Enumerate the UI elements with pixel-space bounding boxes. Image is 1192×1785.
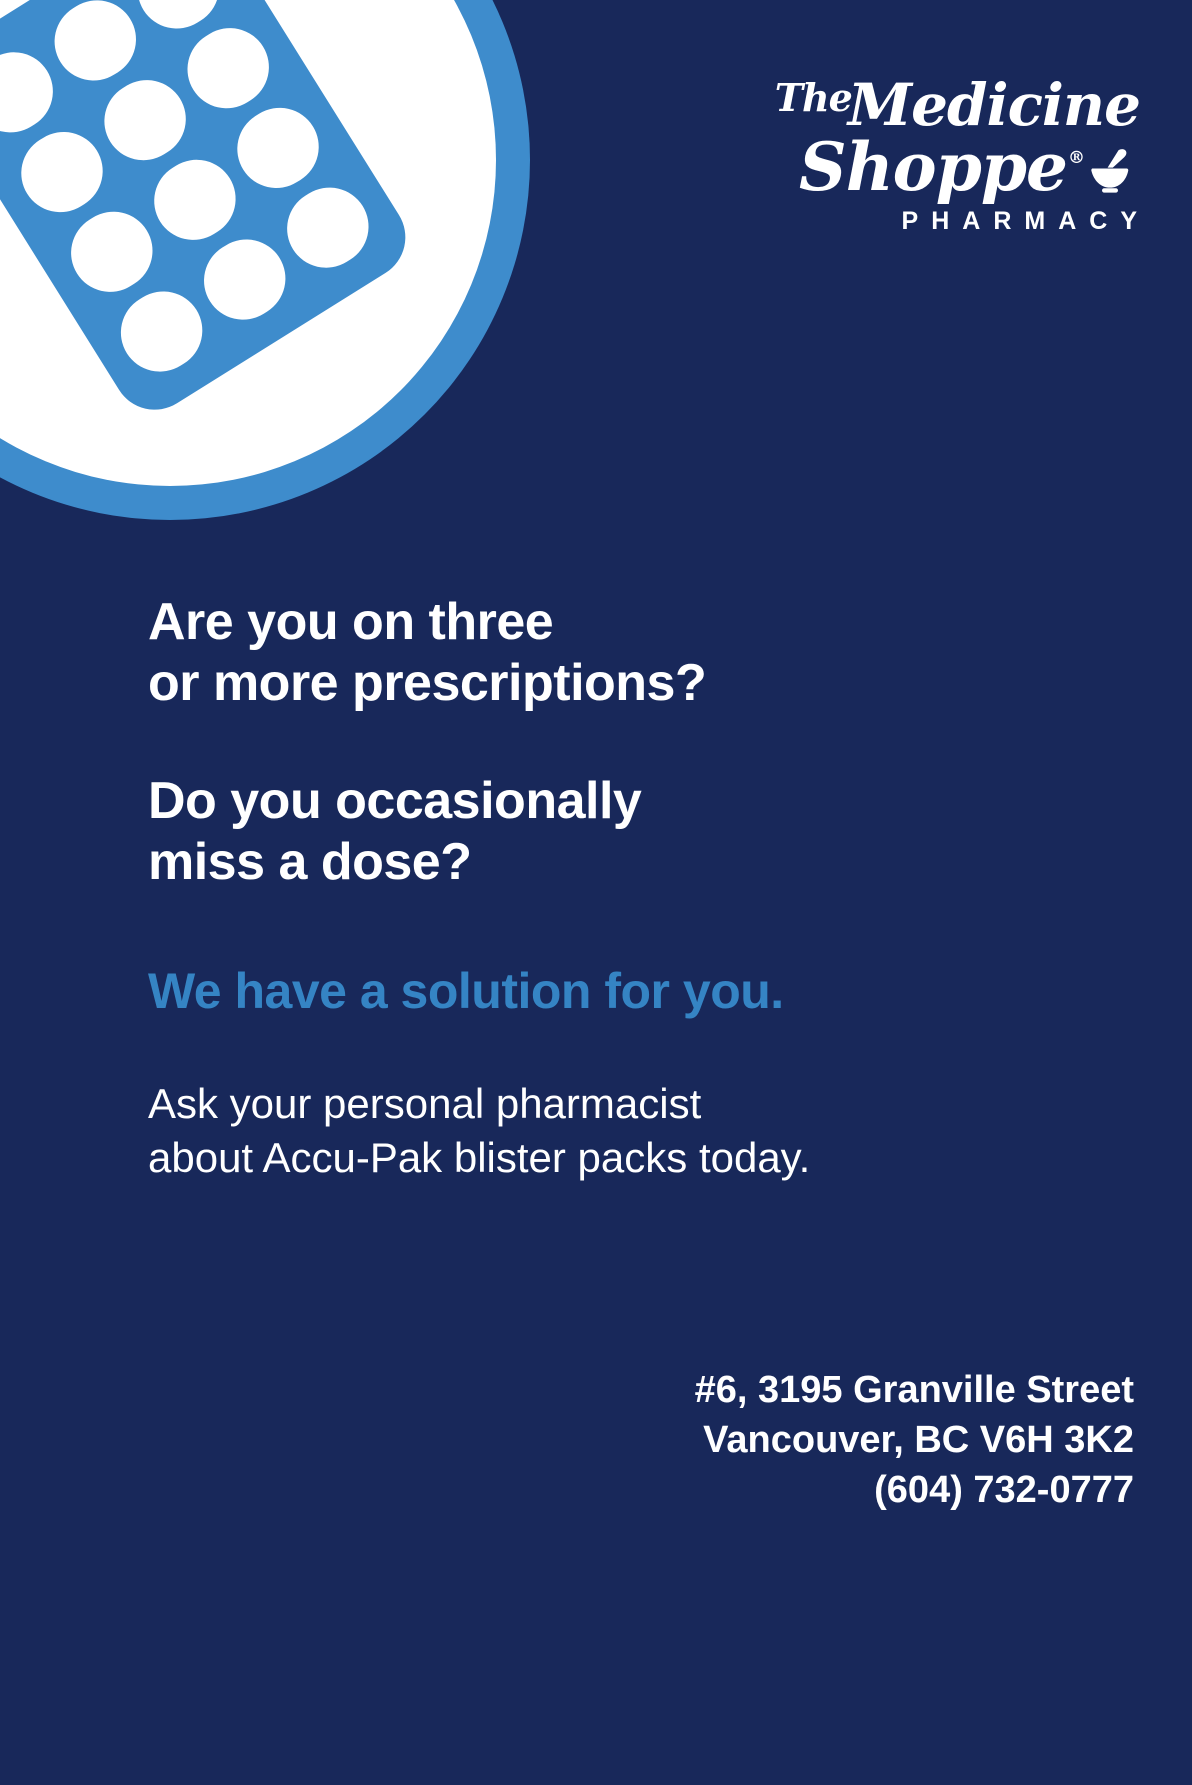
- poster-canvas: TheMedicine Shoppe® PHARMACY Are you on …: [0, 0, 1192, 1785]
- accent-solution-line: We have a solution for you.: [148, 961, 1048, 1021]
- blister-pack-badge: [0, 0, 530, 520]
- logo-line-shoppe: Shoppe®: [720, 134, 1140, 201]
- headline-miss-dose: Do you occasionally miss a dose?: [148, 771, 1048, 894]
- pill-cell: [139, 145, 250, 255]
- logo-word-the: The: [775, 75, 852, 120]
- main-content: Are you on three or more prescriptions? …: [148, 592, 1048, 1185]
- pill-cell: [223, 93, 334, 203]
- blister-pack-body: [0, 0, 421, 426]
- address-city-postal: Vancouver, BC V6H 3K2: [695, 1415, 1134, 1465]
- pill-cell: [90, 65, 201, 175]
- pill-cell: [106, 277, 217, 387]
- address-block: #6, 3195 Granville Street Vancouver, BC …: [695, 1365, 1134, 1515]
- mortar-and-pestle-icon: [1088, 149, 1134, 193]
- address-phone[interactable]: (604) 732-0777: [695, 1465, 1134, 1515]
- badge-white-circle: [0, 0, 496, 486]
- pill-cell: [7, 117, 118, 227]
- logo-line-medicine: TheMedicine: [720, 78, 1140, 134]
- blister-pack-icon: [0, 0, 421, 426]
- address-street: #6, 3195 Granville Street: [695, 1365, 1134, 1415]
- logo-word-shoppe: Shoppe: [799, 128, 1067, 206]
- logo-word-pharmacy: PHARMACY: [720, 207, 1150, 236]
- registered-trademark-icon: ®: [1068, 148, 1084, 168]
- pill-cell: [189, 225, 300, 335]
- headline-prescriptions: Are you on three or more prescriptions?: [148, 592, 1048, 715]
- brand-logo: TheMedicine Shoppe® PHARMACY: [720, 78, 1140, 236]
- body-call-to-action: Ask your personal pharmacist about Accu-…: [148, 1077, 1048, 1185]
- pill-cell: [173, 13, 284, 123]
- pill-cell: [56, 197, 167, 307]
- pill-cell: [272, 173, 383, 283]
